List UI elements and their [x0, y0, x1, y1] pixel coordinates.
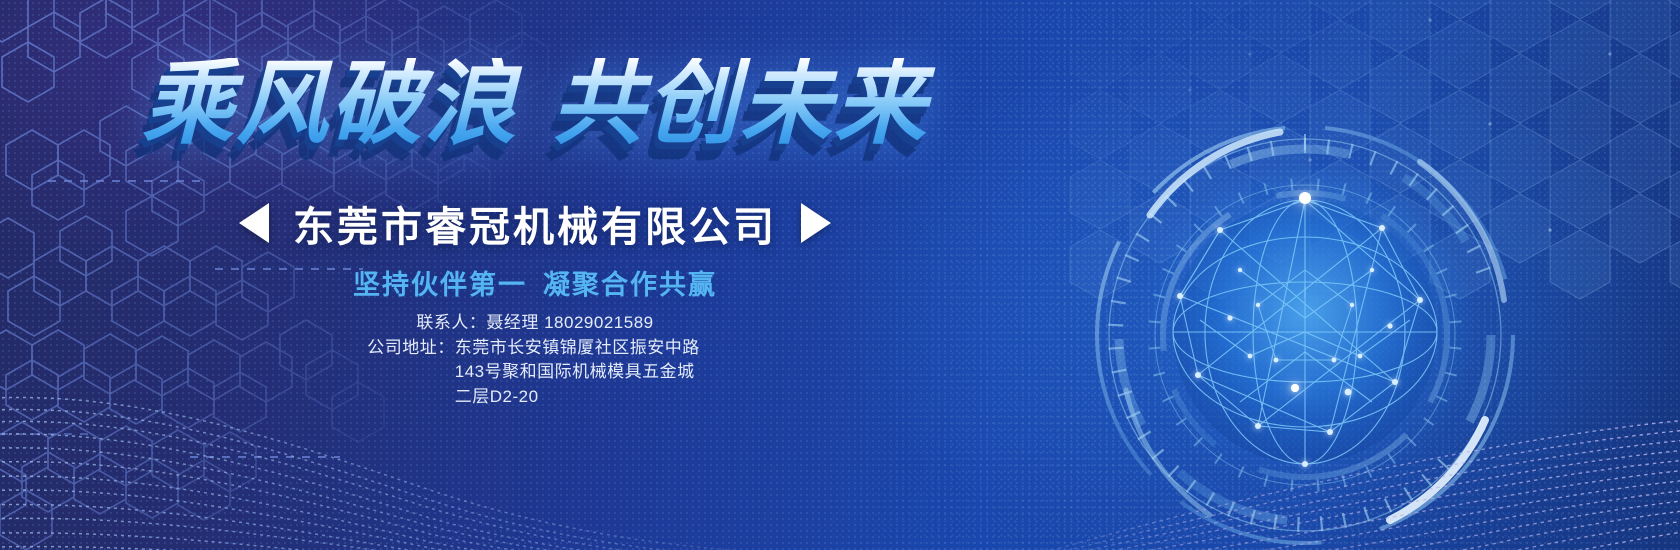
company-address-line: 公司地址： 东莞市长安镇锦厦社区振安中路143号聚和国际机械模具五金城二层D2-… [185, 336, 885, 410]
slogan-part-2: 凝聚合作共赢 [543, 270, 717, 300]
promotional-banner: 乘风破浪共创未来 东莞市睿冠机械有限公司 坚持伙伴第一凝聚合作共赢 联系人：聂经… [0, 0, 1680, 550]
company-slogan: 坚持伙伴第一凝聚合作共赢 [0, 263, 1070, 302]
left-triangle-icon [239, 203, 269, 243]
contact-info-block: 联系人：聂经理 18029021589 公司地址： 东莞市长安镇锦厦社区振安中路… [0, 311, 1070, 410]
slogan-part-1: 坚持伙伴第一 [353, 270, 527, 300]
address-value: 东莞市长安镇锦厦社区振安中路143号聚和国际机械模具五金城二层D2-20 [455, 336, 703, 410]
company-name: 东莞市睿冠机械有限公司 [293, 193, 777, 253]
banner-headline: 乘风破浪共创未来 [0, 58, 1070, 150]
banner-text-content: 乘风破浪共创未来 东莞市睿冠机械有限公司 坚持伙伴第一凝聚合作共赢 联系人：聂经… [0, 0, 1070, 550]
contact-person-line: 联系人：聂经理 18029021589 [0, 311, 1070, 336]
right-triangle-icon [801, 203, 831, 243]
headline-part-2: 共创未来 [552, 53, 928, 155]
headline-part-1: 乘风破浪 [142, 53, 518, 155]
company-name-row: 东莞市睿冠机械有限公司 [0, 193, 1070, 253]
address-label: 公司地址： [367, 336, 455, 410]
